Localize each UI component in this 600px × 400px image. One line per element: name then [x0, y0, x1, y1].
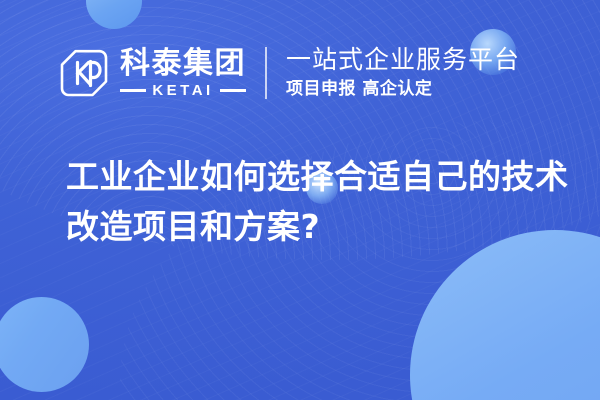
ketai-kd-monogram-icon — [58, 47, 110, 99]
header-divider — [265, 47, 267, 99]
brand-name-en: KETAI — [146, 83, 219, 98]
header-tagline: 一站式企业服务平台 项目申报 高企认定 — [286, 46, 520, 99]
wordmark-dash-left — [120, 89, 146, 92]
wordmark-dash-right — [220, 89, 246, 92]
page-title-line-2: 改造项目和方案? — [66, 202, 566, 252]
page-title: 工业企业如何选择合适自己的技术 改造项目和方案? — [66, 152, 566, 252]
tagline-primary: 一站式企业服务平台 — [286, 46, 520, 74]
banner-header: 科泰集团 KETAI 一站式企业服务平台 项目申报 高企认定 — [0, 38, 600, 108]
page-title-line-1: 工业企业如何选择合适自己的技术 — [66, 152, 566, 202]
tagline-secondary: 项目申报 高企认定 — [286, 79, 520, 99]
brand-name-cn: 科泰集团 — [120, 49, 246, 79]
brand-wordmark: 科泰集团 KETAI — [120, 49, 246, 98]
brand-logo[interactable]: 科泰集团 KETAI — [58, 47, 246, 99]
brand-name-en-row: KETAI — [120, 83, 246, 98]
promo-banner: 科泰集团 KETAI 一站式企业服务平台 项目申报 高企认定 工业企业如何选择合… — [0, 0, 600, 400]
